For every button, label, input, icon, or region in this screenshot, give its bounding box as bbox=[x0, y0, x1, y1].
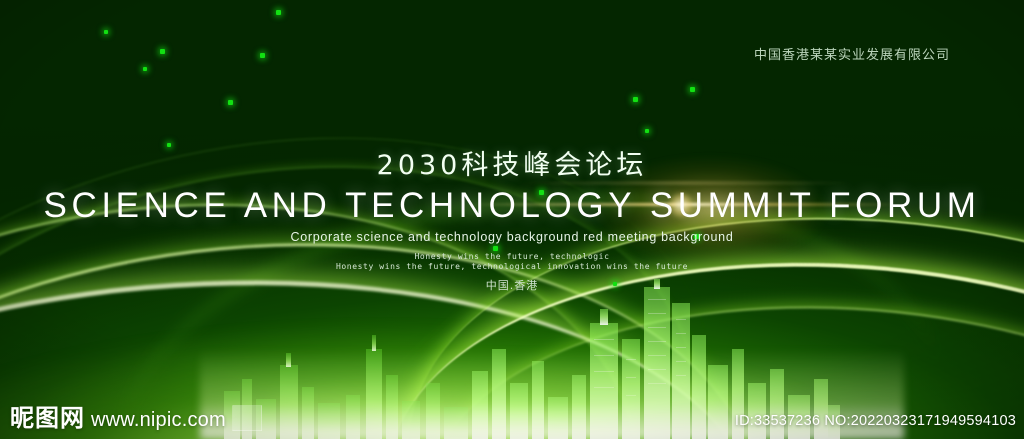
company-name: 中国香港某某实业发展有限公司 bbox=[0, 44, 950, 63]
watermark-badge-icon bbox=[232, 405, 262, 431]
subtitle-english: Corporate science and technology backgro… bbox=[0, 230, 1024, 244]
title-chinese: 2030科技峰会论坛 bbox=[0, 143, 1024, 182]
watermark-site-name: 昵图网 bbox=[10, 398, 85, 433]
location-label: 中国.香港 bbox=[0, 277, 1024, 293]
watermark-site-url[interactable]: www.nipic.com bbox=[91, 409, 226, 432]
watermark-left: 昵图网 www.nipic.com bbox=[10, 398, 226, 433]
poster-canvas: 中国香港某某实业发展有限公司 2030科技峰会论坛 SCIENCE AND TE… bbox=[0, 0, 1024, 439]
tagline-block: Honesty wins the future, technologic Hon… bbox=[0, 252, 1024, 272]
tagline-line-1: Honesty wins the future, technologic bbox=[0, 252, 1024, 262]
title-english: SCIENCE AND TECHNOLOGY SUMMIT FORUM bbox=[0, 186, 1024, 226]
tagline-line-2: Honesty wins the future, technological i… bbox=[0, 262, 1024, 272]
watermark-asset-id: ID:33537236 NO:20220323171949594103 bbox=[735, 413, 1016, 429]
